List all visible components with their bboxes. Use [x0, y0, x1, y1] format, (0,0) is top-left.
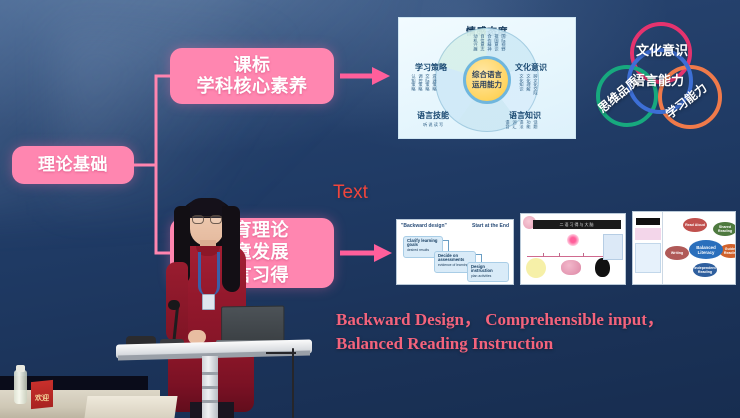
wheel-sub-right: 文化知识 文化理解 跨文化交际 — [519, 74, 539, 95]
backward-step-3-body: plan activities — [471, 274, 491, 278]
backward-step-1-heading: Clarify learning goals — [407, 239, 439, 248]
brain-flower-icon — [567, 234, 579, 246]
brain-tick-3 — [583, 253, 584, 257]
backward-step-3: Design instruction plan activities — [467, 262, 509, 282]
slide-thumbnail-balanced-literacy: Read Aloud Shared Reading Guided Reading… — [632, 211, 736, 285]
wheel-core-line1: 综合语言 — [472, 70, 502, 80]
glasses-lens-right — [210, 215, 222, 224]
backward-title-left: "Backward design" — [401, 223, 447, 229]
wheel-label-cultural-awareness: 文化意识 — [515, 62, 547, 73]
brain-tick-1 — [543, 253, 544, 257]
wheel-sub-bottom-right: 语音 词汇 语法 功能 话题 — [505, 120, 539, 128]
literacy-node-independent-reading: Independent Reading — [693, 263, 717, 277]
slide-thumbnail-brain-sla: 二语习得与大脑 — [520, 213, 626, 285]
literacy-left-column — [633, 212, 663, 284]
backward-step-2-body: evidence of learning — [438, 263, 468, 267]
presentation-scene: 理论基础 课标 学科核心素养 教育理论 儿童发展 语言习得 Text 情感态度 … — [0, 0, 740, 418]
literacy-pink-box — [635, 228, 661, 240]
backward-title-right: Start at the End — [472, 223, 509, 229]
mindmap-root-label: 理论基础 — [38, 155, 108, 175]
brain-side-panel — [603, 234, 623, 260]
wheel-core: 综合语言 运用能力 — [463, 56, 511, 104]
presenter-badge — [202, 294, 215, 310]
literacy-node-writing: Writing — [665, 246, 689, 260]
laptop-screen[interactable] — [221, 306, 284, 344]
microphone-icon — [168, 300, 180, 310]
mindmap-root-node[interactable]: 理论基础 — [12, 146, 134, 184]
slide-image-competency-wheel: 情感态度 动机兴趣 自信意志 合作精神 祖国意识 国际视野 学习策略 认知策略 … — [398, 17, 576, 139]
brain-silhouette-icon — [595, 258, 610, 277]
literacy-center-node: Balanced Literacy — [689, 240, 723, 259]
literacy-node-shared-reading: Shared Reading — [713, 222, 736, 236]
presenter-hair-right — [222, 206, 240, 292]
literacy-title-bar — [636, 218, 660, 225]
slide-image-core-competency-venn: 文化意识 语言能力 思维品质 学习能力 — [592, 20, 732, 138]
wheel-sub-bottom-left: 听 说 读 写 — [423, 122, 443, 127]
venn-label-cultural: 文化意识 — [636, 40, 688, 59]
podium-notch-1 — [202, 372, 218, 375]
backward-step-2-heading: Decide on assessments — [438, 254, 472, 263]
water-bottle-cap — [16, 365, 25, 372]
wheel-sub-top: 动机兴趣 自信意志 合作精神 祖国意识 国际视野 — [473, 34, 507, 51]
foreground-desk-panel — [84, 396, 177, 418]
glasses-lens-left — [192, 215, 204, 224]
literacy-node-read-aloud: Read Aloud — [683, 218, 707, 232]
literacy-table-box — [635, 243, 661, 273]
brain-tick-2 — [559, 253, 560, 257]
node-standards-line2: 学科核心素养 — [197, 76, 308, 97]
wheel-label-language-skills: 语言技能 — [417, 110, 449, 121]
water-bottle — [14, 370, 27, 404]
wheel-core-line2: 运用能力 — [472, 80, 502, 90]
podium-cable-vertical — [292, 348, 294, 418]
brain-illustration-icon — [561, 260, 581, 275]
presenter-lanyard — [198, 252, 220, 296]
red-name-card-text: 欢迎 — [33, 395, 51, 403]
caption-line-2: Balanced Reading Instruction — [336, 332, 728, 356]
brain-yellow-circle — [526, 258, 546, 278]
wheel-label-learning-strategies: 学习策略 — [415, 62, 447, 73]
backward-step-3-heading: Design instruction — [471, 265, 505, 274]
caption-line-1: Backward Design， Comprehensible input， — [336, 308, 728, 332]
brain-slide-header: 二语习得与大脑 — [533, 220, 621, 229]
slide-caption: Backward Design， Comprehensible input， B… — [336, 308, 728, 356]
mindmap-node-standards[interactable]: 课标 学科核心素养 — [170, 48, 334, 104]
podium-notch-2 — [202, 386, 218, 389]
wheel-sub-left: 认知策略 调控策略 交际策略 资源策略 — [411, 74, 438, 91]
backward-step-1-body: desired results — [407, 248, 429, 252]
backward-title-row: "Backward design" Start at the End — [401, 223, 509, 229]
floating-text-label: Text — [333, 182, 368, 204]
podium-notch-3 — [202, 400, 218, 403]
node-standards-line1: 课标 — [234, 55, 271, 76]
slide-thumbnail-backward-design: "Backward design" Start at the End Clari… — [396, 219, 514, 285]
